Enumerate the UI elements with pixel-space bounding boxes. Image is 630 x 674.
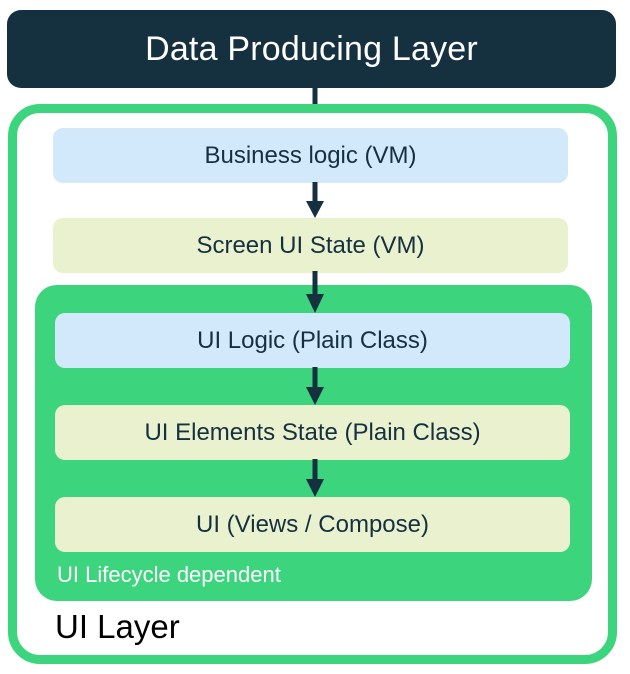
arrow-down-icon: [303, 182, 327, 220]
ui-lifecycle-dependent-label: UI Lifecycle dependent: [57, 562, 281, 588]
node-ui-elements-state-label: UI Elements State (Plain Class): [144, 421, 480, 445]
node-ui-logic: UI Logic (Plain Class): [55, 313, 570, 368]
arrow-down-icon: [303, 367, 327, 407]
data-producing-layer-box: Data Producing Layer: [7, 10, 616, 88]
data-producing-layer-label: Data Producing Layer: [145, 32, 478, 66]
ui-layer-label: UI Layer: [55, 607, 180, 647]
node-business-logic-label: Business logic (VM): [204, 144, 416, 168]
node-ui-views-compose-label: UI (Views / Compose): [196, 513, 429, 537]
node-screen-ui-state-label: Screen UI State (VM): [196, 234, 424, 258]
architecture-diagram: Data Producing Layer Business logic (VM)…: [0, 0, 630, 674]
node-screen-ui-state: Screen UI State (VM): [53, 218, 568, 273]
node-business-logic: Business logic (VM): [53, 128, 568, 183]
arrow-down-icon: [303, 459, 327, 499]
node-ui-views-compose: UI (Views / Compose): [55, 497, 570, 552]
node-ui-elements-state: UI Elements State (Plain Class): [55, 405, 570, 460]
node-ui-logic-label: UI Logic (Plain Class): [197, 329, 428, 353]
arrow-down-icon: [303, 271, 327, 315]
